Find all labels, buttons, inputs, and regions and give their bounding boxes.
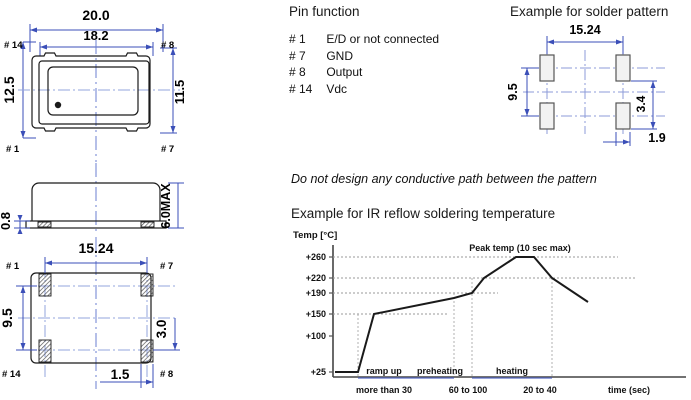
pin-function: Vdc xyxy=(326,82,347,96)
pin1-index-dot xyxy=(55,102,61,108)
chart-ytick-150: +150 xyxy=(306,309,326,319)
dim-9-5-label: 9.5 xyxy=(506,83,520,100)
pin-label-8: # 8 xyxy=(160,369,173,380)
chart-peak-annotation: Peak temp (10 sec max) xyxy=(469,243,571,253)
chart-ytick-190: +190 xyxy=(306,288,326,298)
pin-function-table: # 1 E/D or not connected # 7 GND # 8 Out… xyxy=(289,31,439,97)
chart-ytick-260: +260 xyxy=(306,252,326,262)
pin-label-7: # 7 xyxy=(160,261,173,272)
pin-number: # 7 xyxy=(289,48,323,65)
table-row: # 1 E/D or not connected xyxy=(289,31,439,48)
chart-y-axis-title: Temp [°C] xyxy=(293,230,337,241)
dim-6-0max-label: 6.0MAX xyxy=(159,183,173,229)
chart-xtick-60-to-100: 60 to 100 xyxy=(449,385,488,395)
dim-15-24-label: 15.24 xyxy=(78,240,113,256)
dim-3-4-label: 3.4 xyxy=(634,95,648,112)
dim-1-9-label: 1.9 xyxy=(648,131,665,145)
pin-function-heading: Pin function xyxy=(289,4,439,19)
chart-phase-heating: heating xyxy=(496,366,528,376)
side-view-drawing: 0.8 6.0MAX xyxy=(0,163,290,235)
pin-label-8: # 8 xyxy=(161,40,174,51)
pin-number: # 1 xyxy=(289,31,323,48)
pin-label-14: # 14 xyxy=(4,40,23,51)
dim-12-5-label: 12.5 xyxy=(1,76,17,103)
table-row: # 7 GND xyxy=(289,48,439,65)
solder-pattern-section: Example for solder pattern xyxy=(510,4,668,19)
chart-phase-preheating: preheating xyxy=(417,366,463,376)
chart-reflow-profile-line xyxy=(335,257,588,372)
table-row: # 8 Output xyxy=(289,64,439,81)
chart-xtick-20-to-40: 20 to 40 xyxy=(523,385,557,395)
top-view-drawing: 20.0 18.2 12.5 11.5 # 14 # 8 # 1 # 7 xyxy=(0,0,290,165)
chart-gridlines xyxy=(333,257,635,314)
dim-20-label: 20.0 xyxy=(82,7,109,23)
reflow-heading: Example for IR reflow soldering temperat… xyxy=(291,206,555,221)
pin-function: GND xyxy=(326,49,353,63)
bottom-view-drawing: 15.24 9.5 3.0 1.5 # 1 # 7 # 14 # 8 xyxy=(0,237,290,400)
dim-0-8-label: 0.8 xyxy=(0,212,13,230)
dim-3-0-label: 3.0 xyxy=(154,320,169,339)
package-outline xyxy=(32,53,150,131)
dim-11-5-label: 11.5 xyxy=(172,80,187,105)
pin-number: # 8 xyxy=(289,64,323,81)
pin-number: # 14 xyxy=(289,81,323,98)
pin-label-7: # 7 xyxy=(161,144,174,155)
dimension-arrowheads xyxy=(21,28,176,139)
pin-function: Output xyxy=(326,65,362,79)
solder-pattern-drawing: 15.24 9.5 3.4 1.9 xyxy=(505,22,691,152)
dim-15-24-label: 15.24 xyxy=(569,23,600,37)
chart-phase-ramp-up: ramp up xyxy=(366,366,402,376)
chart-ytick-100: +100 xyxy=(306,331,326,341)
pin-function: E/D or not connected xyxy=(326,32,439,46)
pin-function-section: Pin function # 1 E/D or not connected # … xyxy=(289,4,439,97)
pin-label-1: # 1 xyxy=(6,261,20,272)
dim-18-label: 18.2 xyxy=(83,28,108,43)
chart-xtick-more-than-30: more than 30 xyxy=(356,385,412,395)
chart-ytick-25: +25 xyxy=(311,367,326,377)
chart-x-axis-title: time (sec) xyxy=(608,385,650,395)
dim-1-5-label: 1.5 xyxy=(111,367,130,382)
pin-label-1: # 1 xyxy=(6,144,20,155)
no-conductive-path-note: Do not design any conductive path betwee… xyxy=(291,172,597,186)
solder-pattern-heading: Example for solder pattern xyxy=(510,4,668,19)
table-row: # 14 Vdc xyxy=(289,81,439,98)
reflow-temperature-chart: Temp [°C] +260 +220 +190 +150 +100 +25 P… xyxy=(288,226,691,400)
dim-9-5-label: 9.5 xyxy=(0,308,15,328)
pin-label-14: # 14 xyxy=(2,369,21,380)
chart-ytick-220: +220 xyxy=(306,273,326,283)
